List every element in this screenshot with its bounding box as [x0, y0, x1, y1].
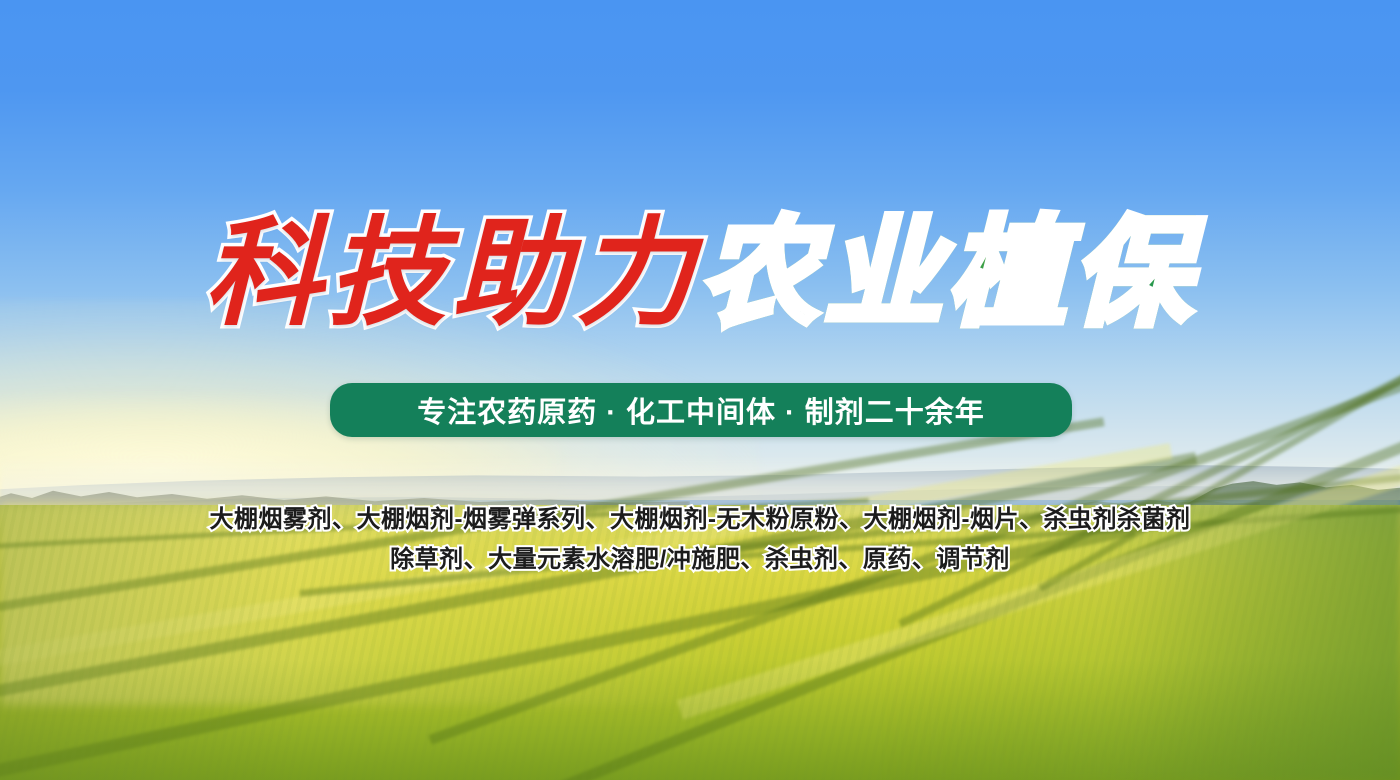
field-bottom-shade: [0, 660, 1400, 780]
headline-green-text: 农业植保: [700, 214, 1196, 332]
promo-banner: 科技助力农业植保 专注农药原药 · 化工中间体 · 制剂二十余年 大棚烟雾剂、大…: [0, 0, 1400, 780]
subtitle-pill: 专注农药原药 · 化工中间体 · 制剂二十余年: [330, 383, 1072, 437]
product-list: 大棚烟雾剂、大棚烟剂-烟雾弹系列、大棚烟剂-无木粉原粉、大棚烟剂-烟片、杀虫剂杀…: [0, 500, 1400, 580]
product-line: 大棚烟雾剂、大棚烟剂-烟雾弹系列、大棚烟剂-无木粉原粉、大棚烟剂-烟片、杀虫剂杀…: [0, 500, 1400, 540]
product-line: 除草剂、大量元素水溶肥/冲施肥、杀虫剂、原药、调节剂: [0, 540, 1400, 580]
headline: 科技助力农业植保: [0, 214, 1400, 332]
subtitle-pill-text: 专注农药原药 · 化工中间体 · 制剂二十余年: [417, 389, 985, 431]
headline-red-text: 科技助力: [204, 214, 700, 332]
